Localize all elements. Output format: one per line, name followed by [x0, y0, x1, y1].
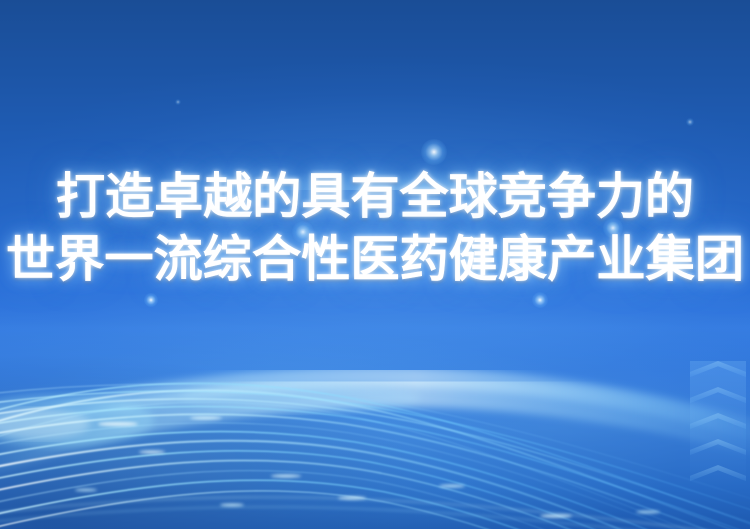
sparkle-glint	[175, 99, 181, 105]
chevron-stack	[690, 361, 746, 487]
sparkle-glint	[686, 118, 694, 126]
slogan-banner: 打造卓越的具有全球竞争力的 世界一流综合性医药健康产业集团	[0, 0, 750, 529]
chevron-up-icon	[690, 439, 746, 465]
chevron-up-icon	[690, 361, 746, 387]
chevron-up-icon	[690, 413, 746, 439]
sparkle-glint	[421, 139, 447, 165]
headline-block: 打造卓越的具有全球竞争力的 世界一流综合性医药健康产业集团	[0, 172, 750, 290]
headline-line-1: 打造卓越的具有全球竞争力的	[0, 172, 750, 227]
sparkle-glint	[144, 293, 158, 307]
sparkle-glint	[532, 292, 548, 308]
headline-line-2: 世界一流综合性医药健康产业集团	[0, 235, 750, 290]
chevron-up-icon	[690, 387, 746, 413]
